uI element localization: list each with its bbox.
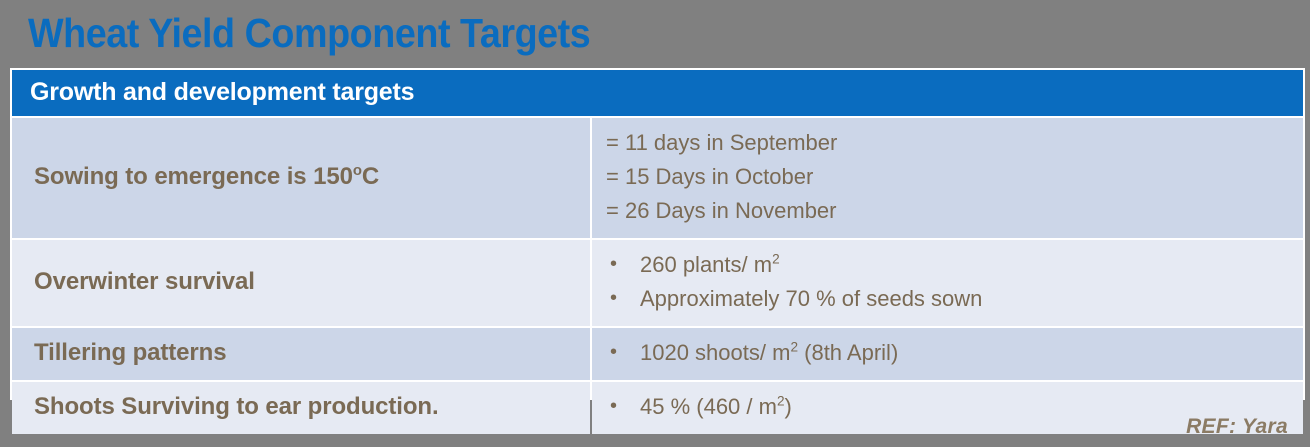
bullet-list: 260 plants/ m2Approximately 70 % of seed… xyxy=(606,248,1293,316)
list-item: 260 plants/ m2 xyxy=(606,248,1293,282)
unit-superscript: 2 xyxy=(777,394,785,409)
slide-root: Wheat Yield Component Targets Growth and… xyxy=(0,0,1310,447)
list-item: = 26 Days in November xyxy=(606,194,1293,228)
table-row: Sowing to emergence is 150oC= 11 days in… xyxy=(12,118,1303,238)
table-data-rows: Sowing to emergence is 150oC= 11 days in… xyxy=(12,118,1303,434)
row-label-cell: Sowing to emergence is 150oC xyxy=(12,118,590,238)
list-item: = 11 days in September xyxy=(606,126,1293,160)
label-superscript: o xyxy=(353,163,362,179)
unit-superscript: 2 xyxy=(790,340,798,355)
table-row: Tillering patterns1020 shoots/ m2 (8th A… xyxy=(12,328,1303,380)
row-label-cell: Tillering patterns xyxy=(12,328,590,380)
plain-line-list: = 11 days in September= 15 Days in Octob… xyxy=(606,126,1293,228)
row-label-text: Shoots Surviving to ear production. xyxy=(34,393,439,420)
bullet-list: 1020 shoots/ m2 (8th April) xyxy=(606,336,1293,370)
table-element: Growth and development targets Sowing to… xyxy=(10,68,1305,436)
row-label-text: Sowing to emergence is 150oC xyxy=(34,163,379,190)
page-title: Wheat Yield Component Targets xyxy=(28,8,1178,60)
table-row: Shoots Surviving to ear production.45 % … xyxy=(12,382,1303,434)
reference-credit: REF: Yara xyxy=(1186,415,1288,439)
row-value-cell: 1020 shoots/ m2 (8th April) xyxy=(592,328,1303,380)
table-row: Overwinter survival260 plants/ m2Approxi… xyxy=(12,240,1303,326)
table-header-cell: Growth and development targets xyxy=(12,70,1303,116)
list-item: Approximately 70 % of seeds sown xyxy=(606,282,1293,316)
row-value-cell: = 11 days in September= 15 Days in Octob… xyxy=(592,118,1303,238)
row-value-cell: 260 plants/ m2Approximately 70 % of seed… xyxy=(592,240,1303,326)
unit-superscript: 2 xyxy=(772,252,780,267)
row-label-cell: Overwinter survival xyxy=(12,240,590,326)
row-label-text: Tillering patterns xyxy=(34,339,226,366)
row-label-text: Overwinter survival xyxy=(34,268,255,295)
targets-table: Growth and development targets Sowing to… xyxy=(10,68,1305,400)
list-item: 1020 shoots/ m2 (8th April) xyxy=(606,336,1293,370)
row-label-cell: Shoots Surviving to ear production. xyxy=(12,382,590,434)
table-body: Growth and development targets xyxy=(12,70,1303,116)
list-item: = 15 Days in October xyxy=(606,160,1293,194)
table-header-row: Growth and development targets xyxy=(12,70,1303,116)
